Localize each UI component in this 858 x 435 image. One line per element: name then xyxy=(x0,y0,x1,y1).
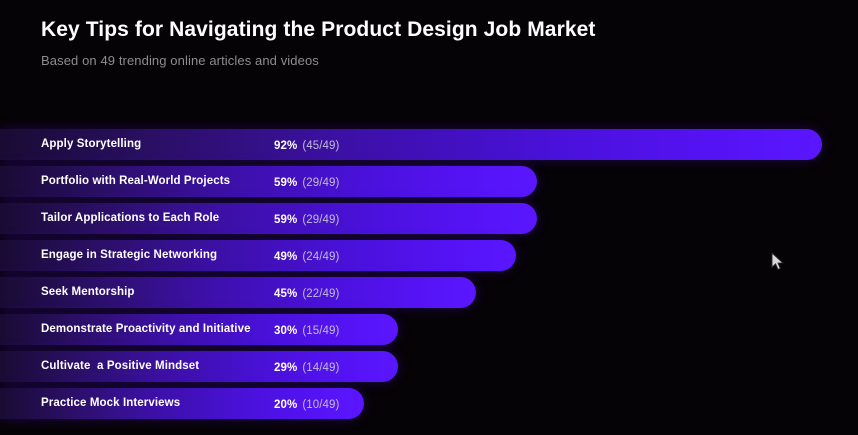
bar-percent-value: 59% xyxy=(274,177,297,189)
bar-count-value: (29/49) xyxy=(302,214,339,226)
bar-stats: 59%(29/49) xyxy=(274,166,339,197)
bar-label: Apply Storytelling xyxy=(41,129,141,160)
bar-stats: 49%(24/49) xyxy=(274,240,339,271)
bar-chart: Apply Storytelling92%(45/49)Portfolio wi… xyxy=(0,129,858,425)
bar-percent-value: 20% xyxy=(274,399,297,411)
bar-percent-value: 59% xyxy=(274,214,297,226)
bar-percent-value: 29% xyxy=(274,362,297,374)
bar-count-value: (24/49) xyxy=(302,251,339,263)
bar-percent-value: 49% xyxy=(274,251,297,263)
bar-count-value: (29/49) xyxy=(302,177,339,189)
bar-row[interactable]: Seek Mentorship45%(22/49) xyxy=(0,277,858,308)
bar-stats: 30%(15/49) xyxy=(274,314,339,345)
bar-label: Seek Mentorship xyxy=(41,277,135,308)
bar-row[interactable]: Tailor Applications to Each Role59%(29/4… xyxy=(0,203,858,234)
bar-count-value: (45/49) xyxy=(302,140,339,152)
bar-stats: 92%(45/49) xyxy=(274,129,339,160)
bar-stats: 59%(29/49) xyxy=(274,203,339,234)
bar-percent-value: 30% xyxy=(274,325,297,337)
bar-count-value: (15/49) xyxy=(302,325,339,337)
bar-label: Engage in Strategic Networking xyxy=(41,240,217,271)
bar-row[interactable]: Apply Storytelling92%(45/49) xyxy=(0,129,858,160)
bar-count-value: (10/49) xyxy=(302,399,339,411)
bar-stats: 29%(14/49) xyxy=(274,351,339,382)
bar-row[interactable]: Engage in Strategic Networking49%(24/49) xyxy=(0,240,858,271)
bar-count-value: (14/49) xyxy=(302,362,339,374)
bar-percent-value: 92% xyxy=(274,140,297,152)
bar-row[interactable]: Cultivate a Positive Mindset29%(14/49) xyxy=(0,351,858,382)
bar-label: Portfolio with Real-World Projects xyxy=(41,166,230,197)
bar-label: Cultivate a Positive Mindset xyxy=(41,351,199,382)
bar-label: Tailor Applications to Each Role xyxy=(41,203,219,234)
chart-subtitle: Based on 49 trending online articles and… xyxy=(41,53,319,68)
bar-stats: 20%(10/49) xyxy=(274,388,339,419)
bar-label: Practice Mock Interviews xyxy=(41,388,180,419)
bar-percent-value: 45% xyxy=(274,288,297,300)
bar-row[interactable]: Practice Mock Interviews20%(10/49) xyxy=(0,388,858,419)
page-title: Key Tips for Navigating the Product Desi… xyxy=(41,18,596,42)
bar-row[interactable]: Demonstrate Proactivity and Initiative30… xyxy=(0,314,858,345)
bar-row[interactable]: Portfolio with Real-World Projects59%(29… xyxy=(0,166,858,197)
bar-label: Demonstrate Proactivity and Initiative xyxy=(41,314,251,345)
bar-stats: 45%(22/49) xyxy=(274,277,339,308)
bar-count-value: (22/49) xyxy=(302,288,339,300)
